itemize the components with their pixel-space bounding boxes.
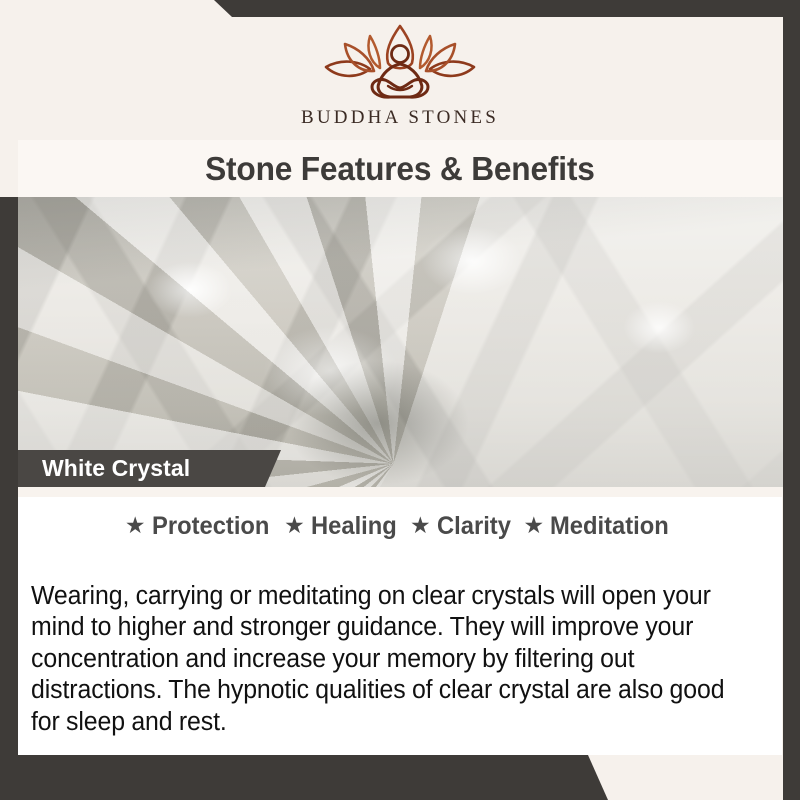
benefit-label: Healing bbox=[311, 512, 397, 541]
star-icon: ★ bbox=[410, 514, 431, 537]
brand-name: BUDDHA STONES bbox=[0, 108, 800, 127]
content-panel: ★ Protection ★ Healing ★ Clarity ★ Medit… bbox=[18, 487, 782, 755]
star-icon: ★ bbox=[523, 514, 544, 537]
lotus-meditation-icon bbox=[312, 20, 488, 104]
title-band: Stone Features & Benefits bbox=[18, 140, 782, 197]
poster-header: BUDDHA STONES bbox=[0, 0, 800, 140]
description-text: Wearing, carrying or meditating on clear… bbox=[31, 581, 751, 739]
benefit-label: Meditation bbox=[550, 512, 669, 541]
benefit-item-protection: ★ Protection bbox=[125, 512, 275, 541]
star-icon: ★ bbox=[125, 514, 146, 537]
frame-right-bar bbox=[783, 0, 800, 800]
benefit-item-clarity: ★ Clarity bbox=[410, 512, 514, 541]
benefit-item-healing: ★ Healing bbox=[284, 512, 401, 541]
panel-top-tint bbox=[18, 487, 782, 497]
brand-logo: BUDDHA STONES bbox=[0, 20, 800, 127]
frame-bottom-bar bbox=[0, 755, 800, 800]
hero-image bbox=[18, 197, 800, 487]
crystal-photo bbox=[18, 197, 800, 487]
benefit-label: Protection bbox=[152, 512, 269, 541]
stone-name-label: White Crystal bbox=[42, 455, 190, 482]
benefit-label: Clarity bbox=[437, 512, 511, 541]
frame-left-bar bbox=[0, 197, 18, 800]
benefit-item-meditation: ★ Meditation bbox=[523, 512, 675, 541]
star-icon: ★ bbox=[284, 514, 305, 537]
stone-name-badge: White Crystal bbox=[18, 450, 281, 487]
benefits-row: ★ Protection ★ Healing ★ Clarity ★ Medit… bbox=[18, 512, 782, 541]
page-title: Stone Features & Benefits bbox=[205, 150, 595, 188]
stone-info-poster: BUDDHA STONES Stone Features & Benefits … bbox=[0, 0, 800, 800]
